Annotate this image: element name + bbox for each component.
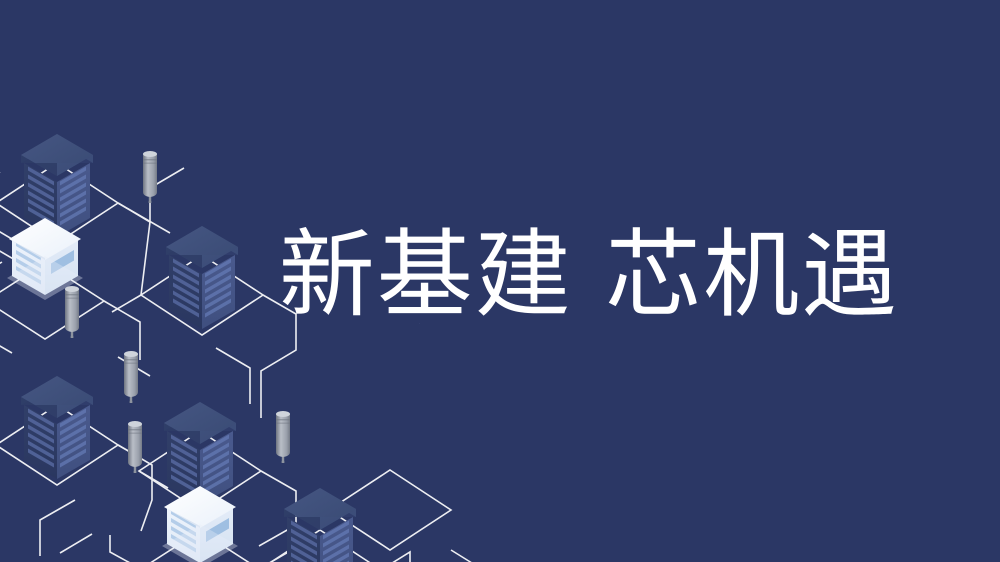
faint-mark: · <box>418 318 421 328</box>
slide-canvas: 新基建 芯机遇 · <box>0 0 1000 562</box>
title-block: 新基建 芯机遇 <box>0 0 1000 562</box>
page-title: 新基建 芯机遇 <box>279 227 900 323</box>
